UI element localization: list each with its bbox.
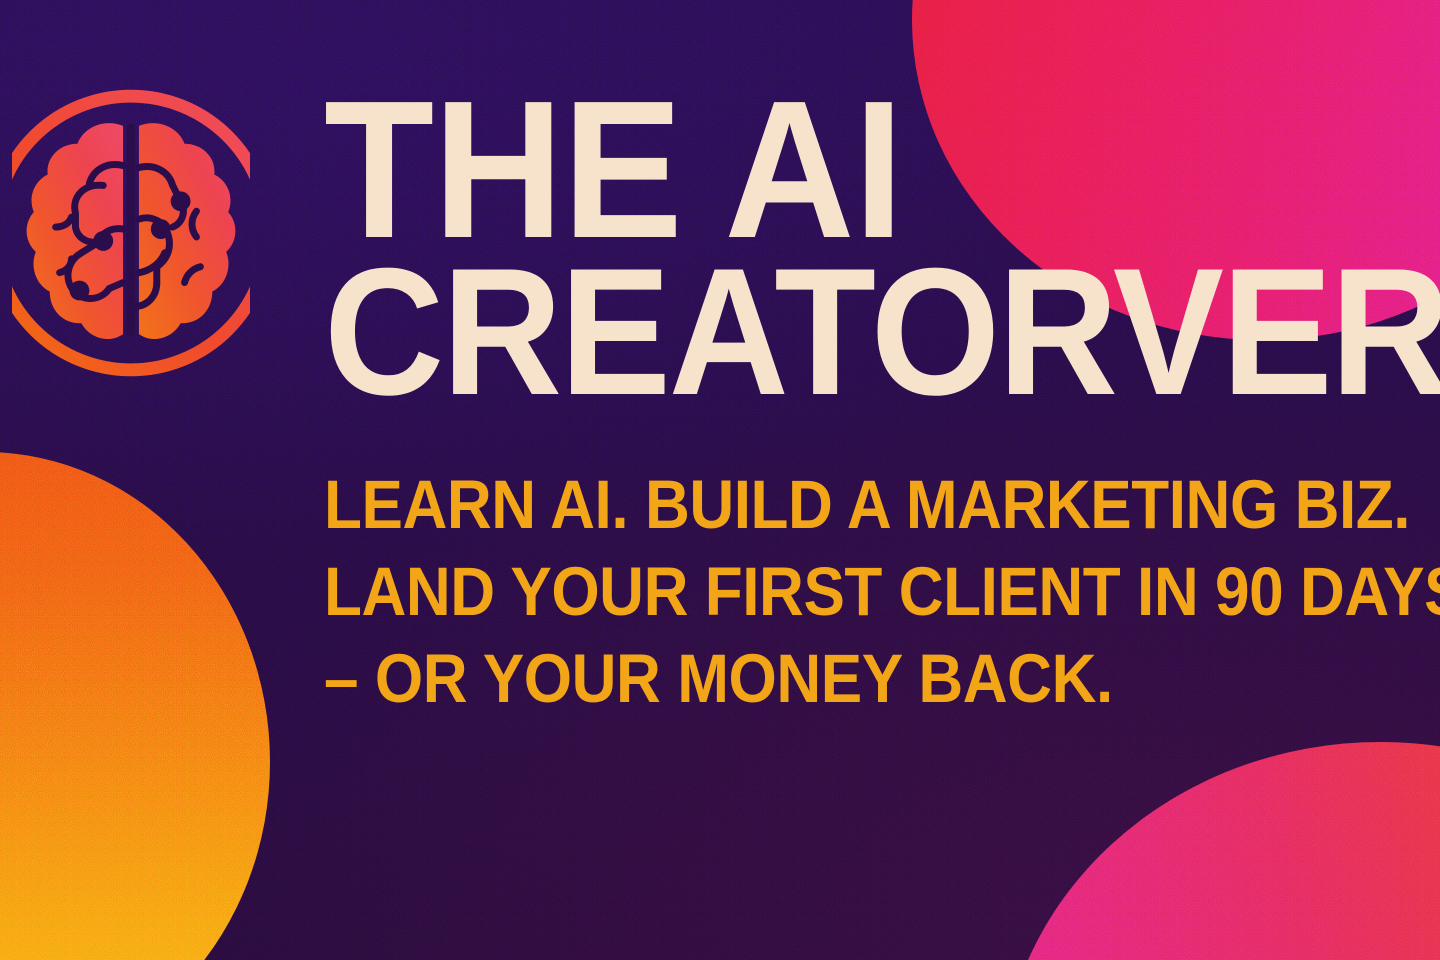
headline-line-1: THE AI: [324, 86, 1318, 255]
subheadline-line-3: – OR YOUR MONEY BACK.: [324, 636, 1296, 723]
subheadline: LEARN AI. BUILD A MARKETING BIZ. LAND YO…: [324, 462, 1296, 723]
subheadline-line-2: LAND YOUR FIRST CLIENT IN 90 DAYS: [324, 549, 1296, 636]
subheadline-line-1: LEARN AI. BUILD A MARKETING BIZ.: [324, 462, 1296, 549]
headline-line-2: CREATORVERSE: [324, 255, 1318, 411]
poster-content: THE AI CREATORVERSE LEARN AI. BUILD A MA…: [324, 86, 1404, 723]
promo-poster: THE AI CREATORVERSE LEARN AI. BUILD A MA…: [0, 0, 1440, 960]
brand-logo: [12, 78, 250, 388]
page-title: THE AI CREATORVERSE: [324, 86, 1318, 410]
